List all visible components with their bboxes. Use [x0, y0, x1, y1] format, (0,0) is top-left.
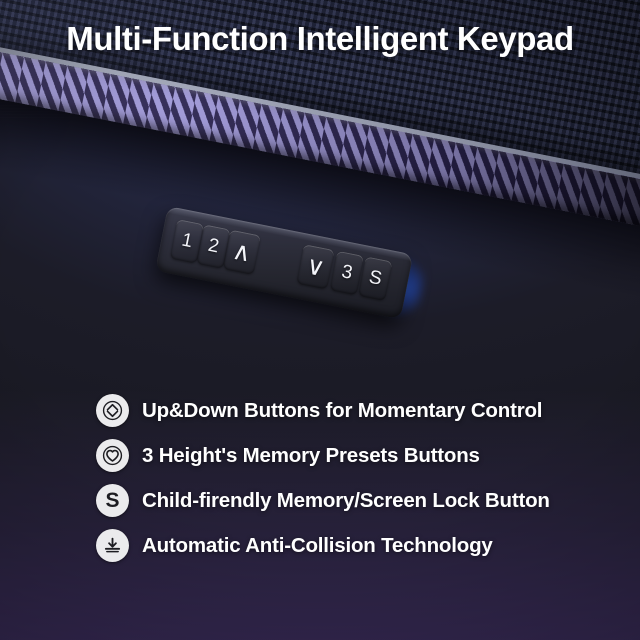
set-lock-key[interactable]: S: [358, 256, 392, 300]
feature-item-up-down: Up&Down Buttons for Momentary Control: [96, 388, 596, 433]
down-arrow-key[interactable]: ∨: [296, 244, 334, 289]
letter-s-icon: S: [96, 484, 129, 517]
feature-label: 3 Height's Memory Presets Buttons: [142, 444, 480, 468]
page-title: Multi-Function Intelligent Keypad: [0, 20, 640, 58]
feature-label: Child-firendly Memory/Screen Lock Button: [142, 489, 550, 513]
up-down-arrows-icon: [96, 394, 129, 427]
heart-icon: [96, 439, 129, 472]
feature-item-memory-presets: 3 Height's Memory Presets Buttons: [96, 433, 596, 478]
feature-item-lock: S Child-firendly Memory/Screen Lock Butt…: [96, 478, 596, 523]
feature-label: Up&Down Buttons for Momentary Control: [142, 399, 542, 423]
feature-list: Up&Down Buttons for Momentary Control 3 …: [96, 388, 596, 568]
letter-s-glyph: S: [105, 490, 119, 511]
feature-label: Automatic Anti-Collision Technology: [142, 534, 493, 558]
anti-collision-icon: [96, 529, 129, 562]
product-feature-banner: 1 2 ∧ ∨ 3 S Multi-Function Intelligent K…: [0, 0, 640, 640]
up-arrow-key[interactable]: ∧: [223, 230, 261, 275]
feature-item-anti-collision: Automatic Anti-Collision Technology: [96, 523, 596, 568]
